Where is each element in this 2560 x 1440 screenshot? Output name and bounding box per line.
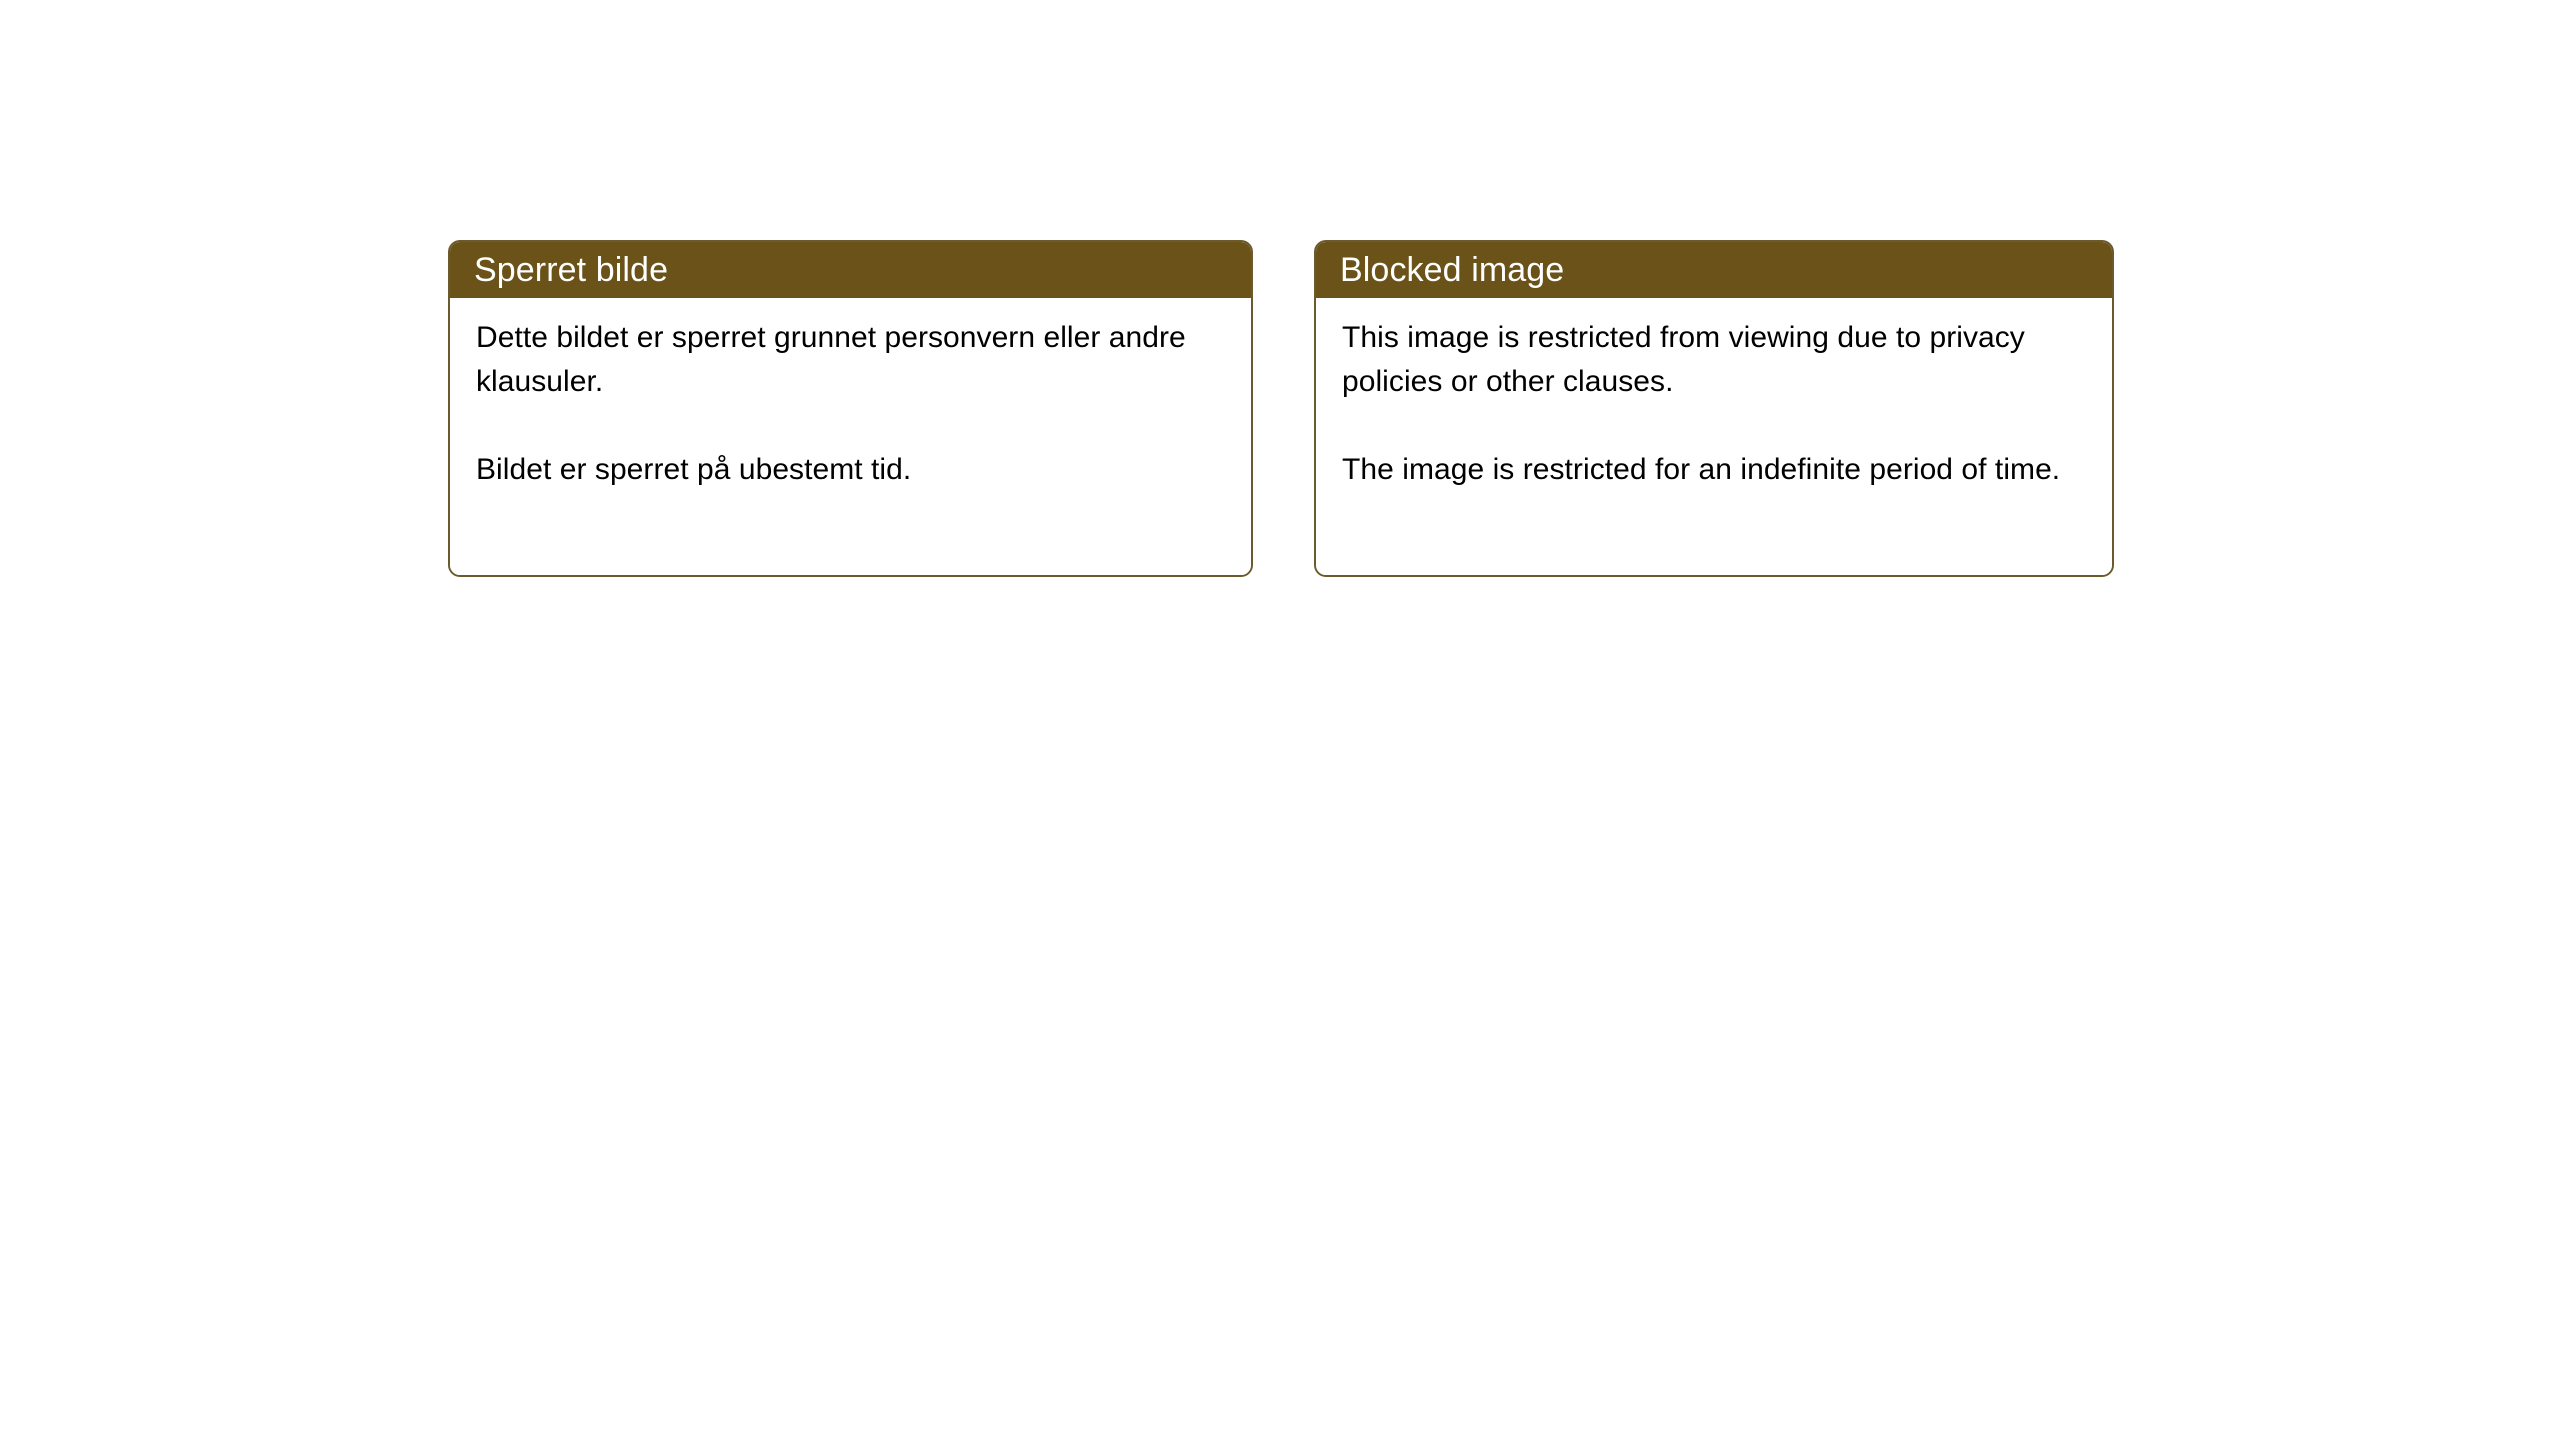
card-body-en: This image is restricted from viewing du… (1316, 298, 2112, 575)
card-title-en: Blocked image (1340, 250, 1564, 290)
card-paragraph-secondary-en: The image is restricted for an indefinit… (1342, 448, 2086, 492)
card-paragraph-primary-en: This image is restricted from viewing du… (1342, 316, 2086, 404)
blocked-image-card-no: Sperret bilde Dette bildet er sperret gr… (448, 240, 1253, 577)
card-paragraph-secondary-no: Bildet er sperret på ubestemt tid. (476, 448, 1225, 492)
card-paragraph-primary-no: Dette bildet er sperret grunnet personve… (476, 316, 1225, 404)
blocked-image-card-en: Blocked image This image is restricted f… (1314, 240, 2114, 577)
card-body-no: Dette bildet er sperret grunnet personve… (450, 298, 1251, 575)
card-header-no: Sperret bilde (450, 242, 1251, 298)
card-title-no: Sperret bilde (474, 250, 668, 290)
card-header-en: Blocked image (1316, 242, 2112, 298)
blocked-image-notices: Sperret bilde Dette bildet er sperret gr… (448, 240, 2114, 577)
